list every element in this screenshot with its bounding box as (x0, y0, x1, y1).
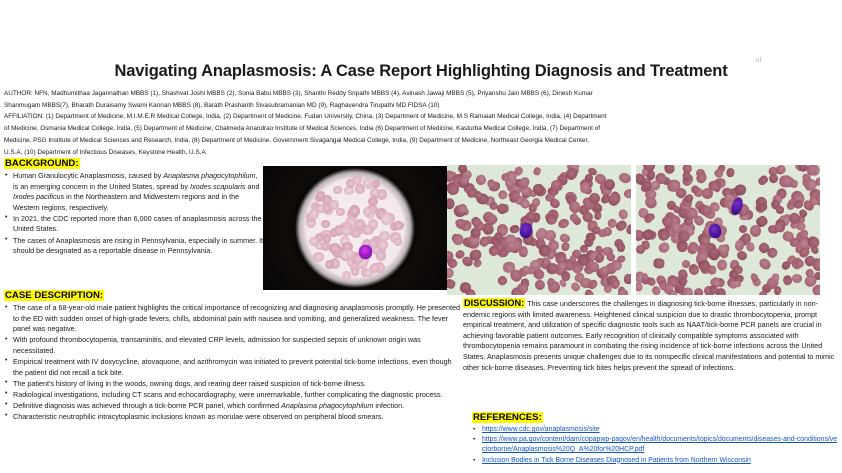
corner-watermark-icon: ul (753, 55, 764, 66)
reference-item[interactable]: https://www.pa.gov/content/dam/copapwp-p… (472, 435, 838, 455)
bullet-text: The cases of Anaplasmosis are rising in … (13, 236, 263, 256)
red-blood-cell (757, 256, 773, 271)
red-blood-cell (309, 209, 320, 218)
page-title: Navigating Anaplasmosis: A Case Report H… (0, 62, 842, 80)
red-blood-cell (623, 273, 631, 284)
red-blood-cell (531, 197, 541, 208)
red-blood-cells-layer-1 (263, 166, 447, 290)
red-blood-cell (617, 288, 628, 295)
species-name: Anaplasma phagocytophilum (163, 171, 255, 180)
red-blood-cell (757, 173, 770, 186)
red-blood-cell (336, 208, 345, 216)
red-blood-cell (782, 274, 792, 285)
red-blood-cell (351, 267, 359, 276)
red-blood-cell (475, 173, 488, 186)
red-blood-cell (776, 206, 785, 214)
list-item: Definitive diagnosis was achieved throug… (4, 401, 460, 412)
red-blood-cell (699, 204, 712, 216)
bullet-text: and (246, 182, 260, 191)
red-blood-cell (654, 258, 665, 269)
red-blood-cell (645, 213, 655, 221)
bullet-text: Empirical treatment with IV doxycycline,… (13, 357, 452, 377)
red-blood-cell (794, 259, 804, 268)
red-blood-cell (317, 191, 326, 199)
red-blood-cell (381, 213, 393, 225)
red-blood-cell (702, 236, 710, 245)
bullet-text: The case of a 68-year-old male patient h… (13, 303, 460, 333)
red-blood-cell (727, 168, 735, 178)
red-blood-cell (557, 217, 571, 230)
red-blood-cell (378, 240, 388, 249)
bullet-text: Human Granulocytic Anaplasmosis, caused … (13, 171, 163, 180)
red-blood-cell (617, 255, 627, 263)
red-blood-cell (773, 286, 782, 295)
red-blood-cells-layer-2 (447, 165, 631, 295)
references-heading: REFERENCES: (472, 411, 838, 424)
bullet-text: With profound thrombocytopenia, transami… (13, 335, 421, 355)
red-blood-cell (746, 242, 755, 252)
author-line-2: Shanmugam MBBS(7), Bharath Duraisamy Swa… (4, 100, 840, 112)
red-blood-cell (394, 238, 402, 246)
peripheral-blood-smear-darkfield-image (263, 166, 447, 290)
red-blood-cell (351, 229, 360, 238)
background-heading: BACKGROUND: (4, 157, 264, 170)
background-section: BACKGROUND: Human Granulocytic Anaplasmo… (4, 157, 264, 257)
red-blood-cell (663, 165, 675, 175)
red-blood-cell (736, 249, 748, 261)
reference-link[interactable]: https://www.pa.gov/content/dam/copapwp-p… (482, 436, 837, 453)
red-blood-cell (325, 260, 334, 269)
poster-canvas: Navigating Anaplasmosis: A Case Report H… (0, 0, 842, 473)
discussion-heading: DISCUSSION: (463, 298, 525, 308)
affiliation-line-2: of Medicine, Osmania Medical College, In… (4, 123, 840, 135)
red-blood-cell (313, 252, 324, 262)
red-blood-cell (509, 224, 520, 234)
red-blood-cell (533, 278, 547, 292)
red-blood-cell (636, 282, 642, 292)
species-name: Anaplasma phagocytophilum (281, 401, 373, 410)
reference-item[interactable]: Inclusion Bodies in Tick Borne Diseases … (472, 456, 838, 466)
red-blood-cell (618, 171, 631, 184)
red-blood-cell (393, 221, 404, 231)
reference-link[interactable]: Inclusion Bodies in Tick Borne Diseases … (482, 457, 751, 464)
red-blood-cell (616, 243, 625, 253)
reference-item[interactable]: https://www.cdc.gov/anaplasmosis/site (472, 425, 838, 435)
red-blood-cell (546, 214, 558, 226)
red-blood-cell (341, 226, 352, 236)
discussion-section: DISCUSSION: This case underscores the ch… (463, 298, 838, 373)
species-name: Ixodes scapularis (190, 182, 246, 191)
author-affiliation-block: AUTHOR: NFN, Madhumithaa Jagannathan MBB… (4, 88, 840, 158)
reference-list: https://www.cdc.gov/anaplasmosis/sitehtt… (472, 425, 838, 466)
red-blood-cell (773, 273, 780, 281)
case-description-heading: CASE DESCRIPTION: (4, 289, 460, 302)
red-blood-cell (333, 186, 341, 193)
discussion-text: This case underscores the challenges in … (463, 299, 834, 372)
peripheral-blood-smear-morula-1-image (447, 165, 631, 295)
morula-inclusion (359, 245, 372, 259)
red-blood-cell (342, 271, 352, 281)
background-bullet-list: Human Granulocytic Anaplasmosis, caused … (4, 171, 264, 257)
red-blood-cell (657, 240, 672, 254)
red-blood-cell (692, 287, 705, 295)
peripheral-blood-smear-morula-2-image (636, 165, 820, 295)
red-blood-cell (447, 278, 457, 290)
bullet-text: In 2021, the CDC reported more than 6,00… (13, 214, 262, 234)
reference-link[interactable]: https://www.cdc.gov/anaplasmosis/site (482, 426, 600, 433)
red-blood-cell (709, 265, 717, 274)
list-item: Radiological investigations, including C… (4, 390, 460, 401)
list-item: With profound thrombocytopenia, transami… (4, 335, 460, 356)
red-blood-cell (569, 255, 576, 263)
red-blood-cell (321, 241, 330, 250)
red-blood-cell (792, 273, 803, 282)
red-blood-cell (496, 275, 509, 288)
list-item: Characteristic neutrophilic intracytopla… (4, 412, 460, 423)
red-blood-cell (346, 249, 354, 257)
red-blood-cell (695, 171, 708, 185)
affiliation-line-3: Medicine, PSG Institute of Medical Scien… (4, 135, 840, 147)
red-blood-cell (379, 231, 390, 241)
species-name: Ixodes pacificus (13, 192, 64, 201)
red-blood-cell (321, 220, 330, 228)
red-blood-cell (779, 175, 792, 188)
discussion-paragraph: DISCUSSION: This case underscores the ch… (463, 298, 838, 373)
red-blood-cell (329, 243, 341, 254)
red-blood-cell (370, 188, 379, 197)
bullet-text: infection. (373, 401, 404, 410)
red-blood-cell (682, 287, 693, 295)
red-blood-cell (651, 181, 661, 191)
bullet-text: Characteristic neutrophilic intracytopla… (13, 412, 383, 421)
red-blood-cell (717, 259, 727, 270)
bullet-text: Radiological investigations, including C… (13, 390, 443, 399)
list-item: The patient's history of living in the w… (4, 379, 460, 390)
red-blood-cells-layer-3 (636, 165, 820, 295)
red-blood-cell (368, 197, 378, 206)
red-blood-cell (733, 183, 747, 197)
red-blood-cell (447, 267, 455, 279)
red-blood-cell (459, 281, 472, 293)
list-item: In 2021, the CDC reported more than 6,00… (4, 214, 264, 235)
list-item: The cases of Anaplasmosis are rising in … (4, 236, 264, 257)
case-description-bullet-list: The case of a 68-year-old male patient h… (4, 303, 460, 423)
list-item: Human Granulocytic Anaplasmosis, caused … (4, 171, 264, 213)
references-section: REFERENCES: https://www.cdc.gov/anaplasm… (472, 411, 838, 466)
red-blood-cell (497, 189, 508, 200)
red-blood-cell (349, 205, 360, 217)
affiliation-line-1: AFFILIATION: (1) Department of Medicine,… (4, 111, 840, 123)
red-blood-cell (533, 183, 544, 194)
bullet-text: The patient's history of living in the w… (13, 379, 366, 388)
red-blood-cell (532, 167, 542, 177)
author-line-1: AUTHOR: NFN, Madhumithaa Jagannathan MBB… (4, 88, 840, 100)
list-item: Empirical treatment with IV doxycycline,… (4, 357, 460, 378)
red-blood-cell (329, 200, 339, 210)
red-blood-cell (362, 225, 374, 236)
bullet-text: Definitive diagnosis was achieved throug… (13, 401, 281, 410)
list-item: The case of a 68-year-old male patient h… (4, 303, 460, 335)
red-blood-cell (624, 189, 631, 200)
case-description-section: CASE DESCRIPTION: The case of a 68-year-… (4, 289, 460, 423)
